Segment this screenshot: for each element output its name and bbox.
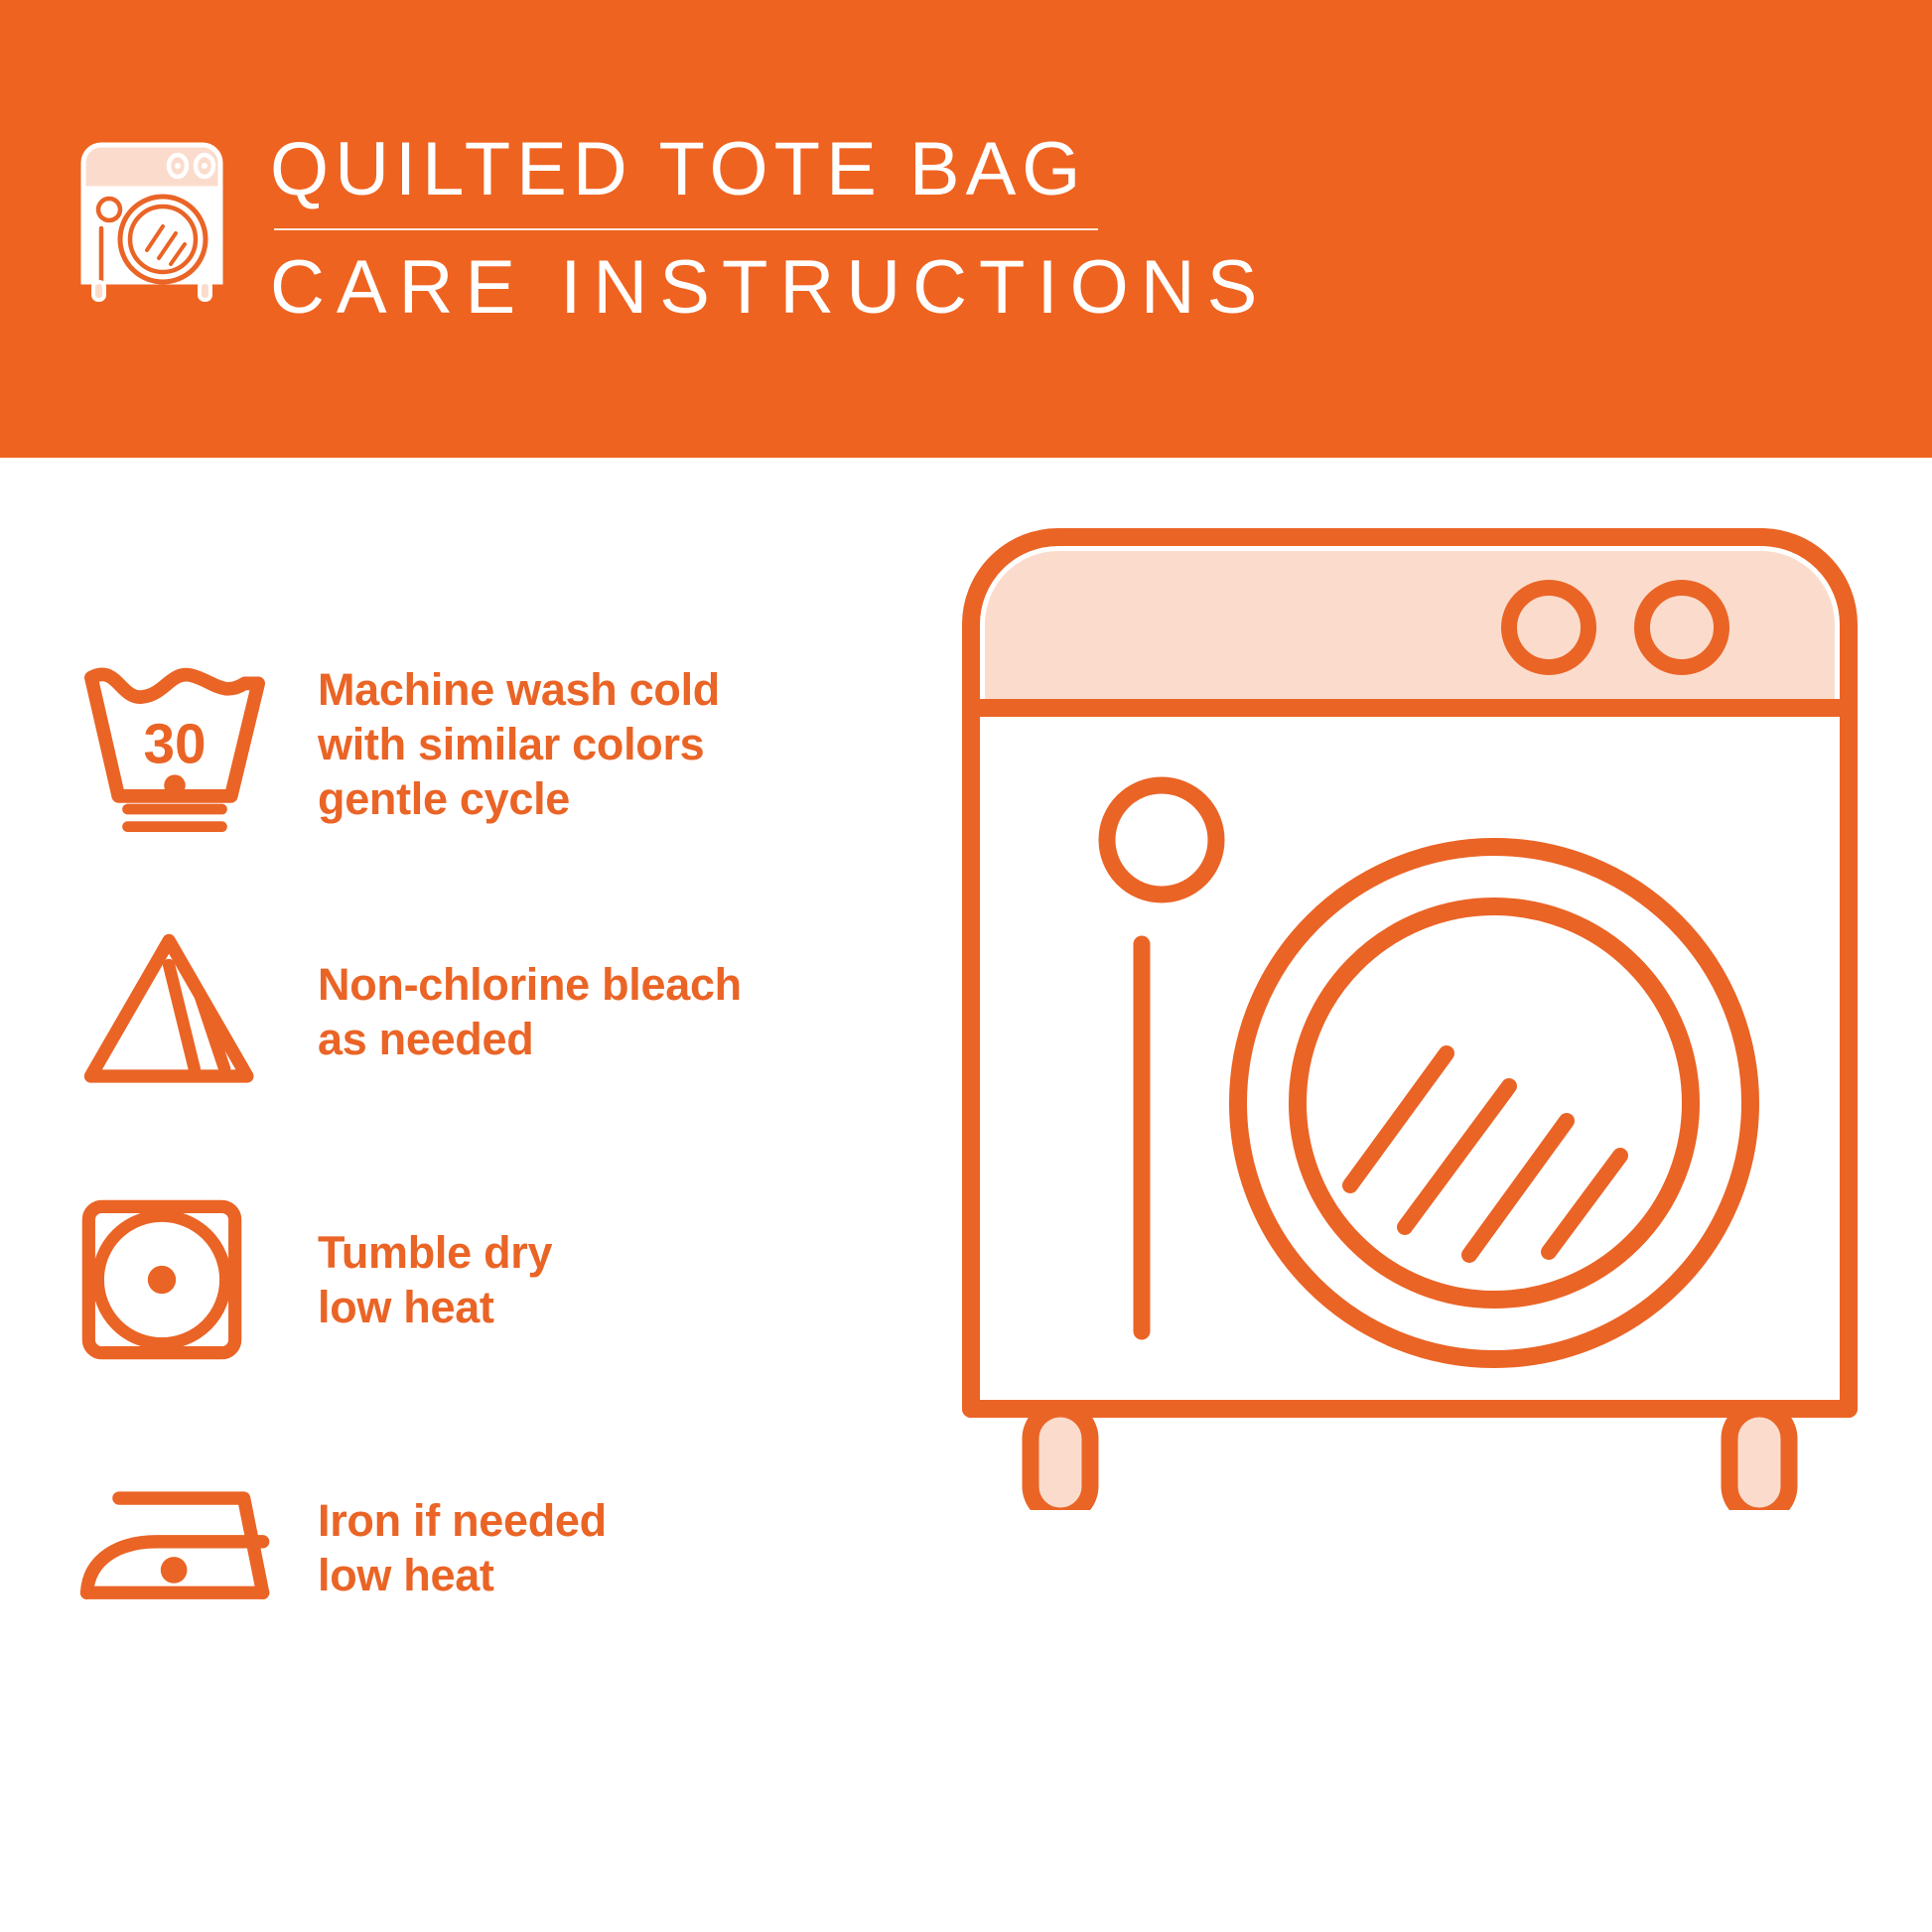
- list-item: Iron if needed low heat: [77, 1441, 931, 1655]
- non-chlorine-bleach-triangle-icon: [77, 912, 276, 1111]
- page-title: QUILTED TOTE BAG: [270, 127, 1269, 212]
- tumble-dry-low-heat-icon: [77, 1180, 276, 1379]
- list-item-label: Machine wash cold with similar colors ge…: [318, 662, 720, 826]
- care-instruction-list: 30 Machine wash cold with similar colors…: [77, 636, 931, 1709]
- title-divider: [274, 228, 1098, 230]
- header-banner: QUILTED TOTE BAG CARE INSTRUCTIONS: [0, 0, 1932, 458]
- label-line: Non-chlorine bleach: [318, 957, 742, 1012]
- label-line: Machine wash cold: [318, 662, 720, 717]
- list-item: Tumble dry low heat: [77, 1173, 931, 1387]
- header-content: QUILTED TOTE BAG CARE INSTRUCTIONS: [77, 127, 1269, 332]
- wash-tub-30-gentle-icon: 30: [77, 644, 276, 843]
- label-line: with similar colors: [318, 717, 720, 771]
- list-item-label: Non-chlorine bleach as needed: [318, 957, 742, 1066]
- wash-temp-label: 30: [143, 713, 206, 775]
- label-line: low heat: [318, 1548, 607, 1602]
- control-knob: [1642, 588, 1722, 667]
- content-area: 30 Machine wash cold with similar colors…: [0, 458, 1932, 1932]
- machine-leg: [1031, 1409, 1090, 1510]
- label-line: Tumble dry: [318, 1225, 552, 1280]
- washing-machine-illustration: [953, 497, 1886, 1510]
- machine-leg: [1729, 1409, 1789, 1510]
- header-titles: QUILTED TOTE BAG CARE INSTRUCTIONS: [270, 127, 1269, 332]
- label-line: Iron if needed: [318, 1493, 607, 1548]
- label-line: gentle cycle: [318, 771, 720, 826]
- label-line: low heat: [318, 1280, 552, 1334]
- list-item-label: Tumble dry low heat: [318, 1225, 552, 1334]
- list-item: 30 Machine wash cold with similar colors…: [77, 636, 931, 851]
- page-subtitle: CARE INSTRUCTIONS: [270, 244, 1269, 332]
- control-knob: [1509, 588, 1588, 667]
- label-line: as needed: [318, 1012, 742, 1066]
- washing-machine-icon: [77, 133, 226, 304]
- list-item: Non-chlorine bleach as needed: [77, 904, 931, 1119]
- list-item-label: Iron if needed low heat: [318, 1493, 607, 1602]
- iron-low-heat-icon: [77, 1449, 276, 1647]
